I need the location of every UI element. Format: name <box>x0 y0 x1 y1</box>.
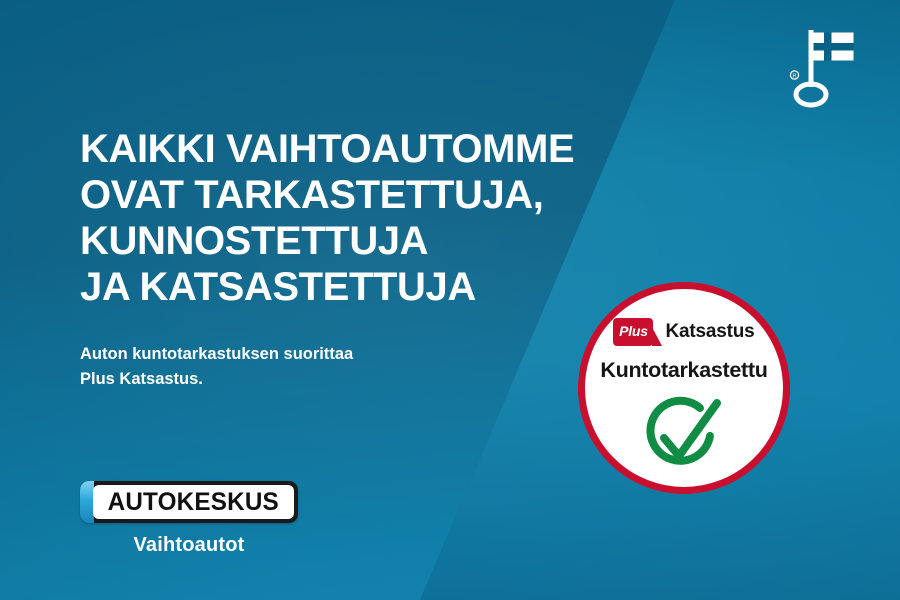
plate-inner-field: AUTOKESKUS <box>93 485 294 519</box>
badge-brand-name: Katsastus <box>665 321 754 343</box>
headline-line-3: KUNNOSTETTUJA <box>80 218 660 264</box>
plate-brand-text: AUTOKESKUS <box>108 490 279 515</box>
logo-tagline: Vaihtoautot <box>80 534 298 557</box>
plate-blue-band <box>80 481 94 523</box>
headline-line-1: KAIKKI VAIHTOAUTOMME <box>80 126 660 172</box>
promo-banner: R KAIKKI VAIHTOAUTOMME OVAT TARKASTETTUJ… <box>0 0 900 600</box>
plus-logo-text: Plus <box>619 324 648 338</box>
check-mark-circle-icon <box>638 394 730 478</box>
headline-line-2: OVAT TARKASTETTUJA, <box>80 172 660 218</box>
badge-brand-row: Plus Katsastus <box>578 318 790 346</box>
licence-plate-logo-icon: AUTOKESKUS <box>80 481 298 523</box>
plus-logo-tail <box>652 327 662 346</box>
subtitle-line-2: Plus Katsastus. <box>80 367 500 392</box>
avainlippu-key-flag-icon: R <box>780 22 876 110</box>
badge-claim-text: Kuntotarkastettu <box>578 358 790 383</box>
subtitle-text: Auton kuntotarkastuksen suorittaa Plus K… <box>80 342 500 392</box>
page-title: KAIKKI VAIHTOAUTOMME OVAT TARKASTETTUJA,… <box>80 126 660 310</box>
plus-logo-icon: Plus <box>613 318 653 346</box>
svg-text:R: R <box>793 74 797 80</box>
autokeskus-logo: AUTOKESKUS Vaihtoautot <box>80 481 308 557</box>
headline-line-4: JA KATSASTETTUJA <box>80 264 660 310</box>
plus-katsastus-badge: Plus Katsastus Kuntotarkastettu <box>578 282 790 494</box>
subtitle-line-1: Auton kuntotarkastuksen suorittaa <box>80 342 500 367</box>
